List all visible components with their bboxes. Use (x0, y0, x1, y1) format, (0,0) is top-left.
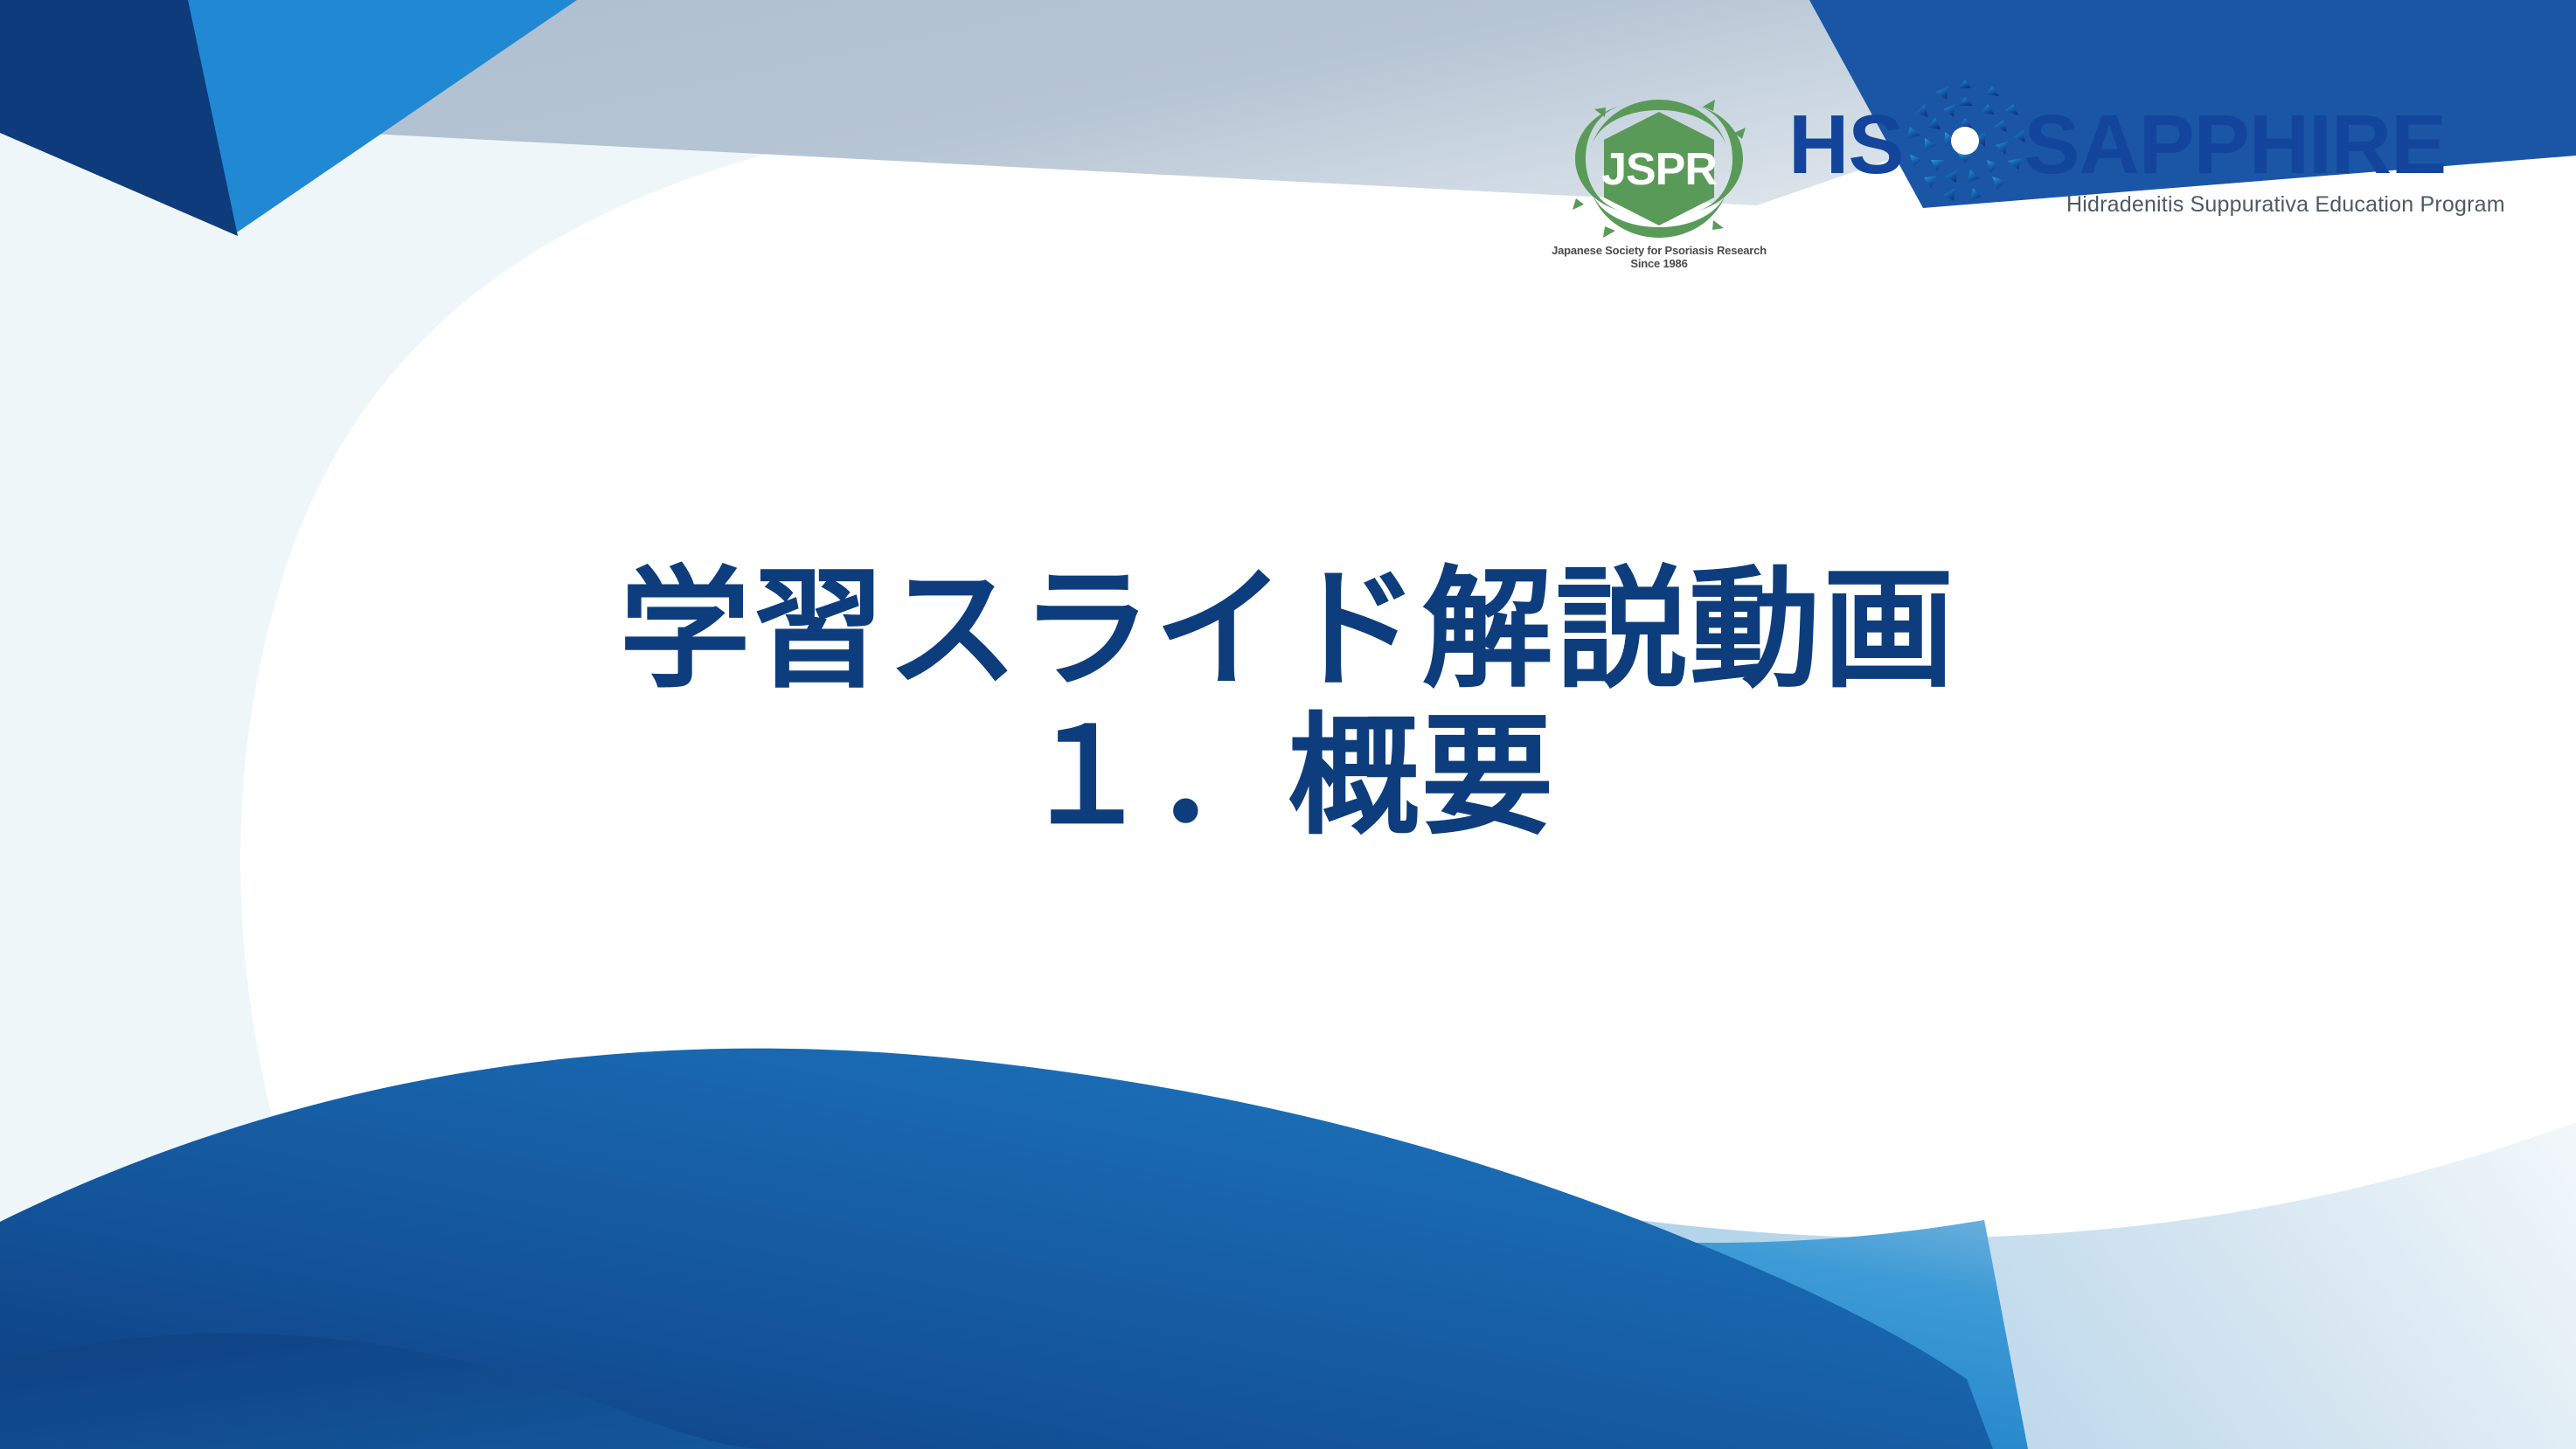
slide-title-line-2: １．概要 (0, 703, 2576, 849)
hs-sapphire-tagline: Hidradenitis Suppurativa Education Progr… (2066, 192, 2488, 218)
svg-text:JSPR: JSPR (1601, 144, 1717, 195)
presentation-slide: JSPR Japanese Society for Psoriasis Rese… (0, 0, 2576, 1449)
slide-title-line-1: 学習スライド解説動画 (0, 556, 2576, 703)
jspr-caption-line1: Japanese Society for Psoriasis Research (1552, 244, 1767, 257)
hs-sapphire-hs-text: HS (1788, 103, 1903, 187)
hs-sapphire-sapphire-text: SAPPHIRE (2024, 103, 2446, 187)
hs-sapphire-wordmark: HS (1788, 100, 2488, 191)
jspr-caption: Japanese Society for Psoriasis Research … (1552, 245, 1767, 270)
logo-group: JSPR Japanese Society for Psoriasis Rese… (1565, 94, 2488, 270)
jspr-emblem-icon: JSPR (1572, 94, 1746, 243)
jspr-logo: JSPR Japanese Society for Psoriasis Rese… (1565, 94, 1753, 270)
slide-title-block: 学習スライド解説動画 １．概要 (0, 556, 2576, 849)
hs-sapphire-logo: HS (1788, 94, 2488, 218)
jspr-caption-line2: Since 1986 (1552, 258, 1767, 271)
sapphire-burst-icon (1901, 78, 2029, 205)
